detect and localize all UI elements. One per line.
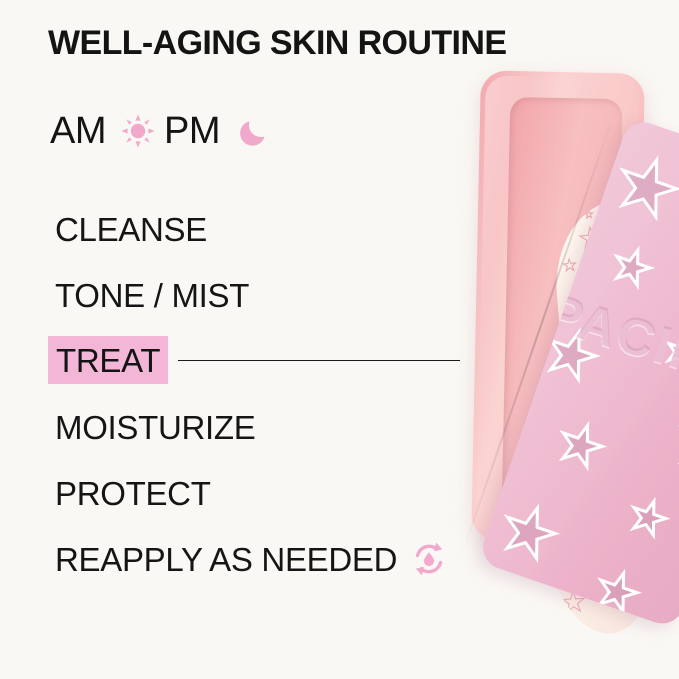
routine-step-moisturize[interactable]: MOISTURIZE [0, 394, 470, 460]
page-title: WELL-AGING SKIN ROUTINE [48, 24, 506, 63]
step-label: TONE / MIST [55, 279, 249, 312]
am-label: AM [50, 112, 106, 150]
routine-step-protect[interactable]: PROTECT [0, 460, 470, 526]
step-label: PROTECT [55, 477, 211, 510]
sun-icon [116, 109, 160, 153]
step-highlight-box: TREAT [48, 336, 168, 384]
time-of-day-row: AM PM [50, 105, 278, 157]
moon-icon [234, 109, 278, 153]
step-label: MOISTURIZE [55, 411, 256, 444]
step-label: REAPPLY AS NEEDED [55, 543, 397, 576]
step-label: CLEANSE [55, 213, 207, 246]
routine-step-cleanse[interactable]: CLEANSE [0, 196, 470, 262]
routine-step-tone-mist[interactable]: TONE / MIST [0, 262, 470, 328]
pm-label: PM [164, 112, 220, 150]
skincare-routine-infographic: ★ ★ ★ ★ ★ ★ ★ ★ ★ ★ ★ ★ ★ ★ ★ ★ [0, 0, 679, 679]
routine-step-treat[interactable]: TREAT [0, 328, 470, 394]
routine-step-list: CLEANSE TONE / MIST TREAT MOISTURIZE PRO… [0, 196, 470, 592]
step-label: TREAT [56, 344, 160, 377]
refresh-droplet-icon [409, 539, 449, 579]
routine-step-reapply[interactable]: REAPPLY AS NEEDED [0, 526, 470, 592]
callout-leader-line [178, 360, 460, 361]
